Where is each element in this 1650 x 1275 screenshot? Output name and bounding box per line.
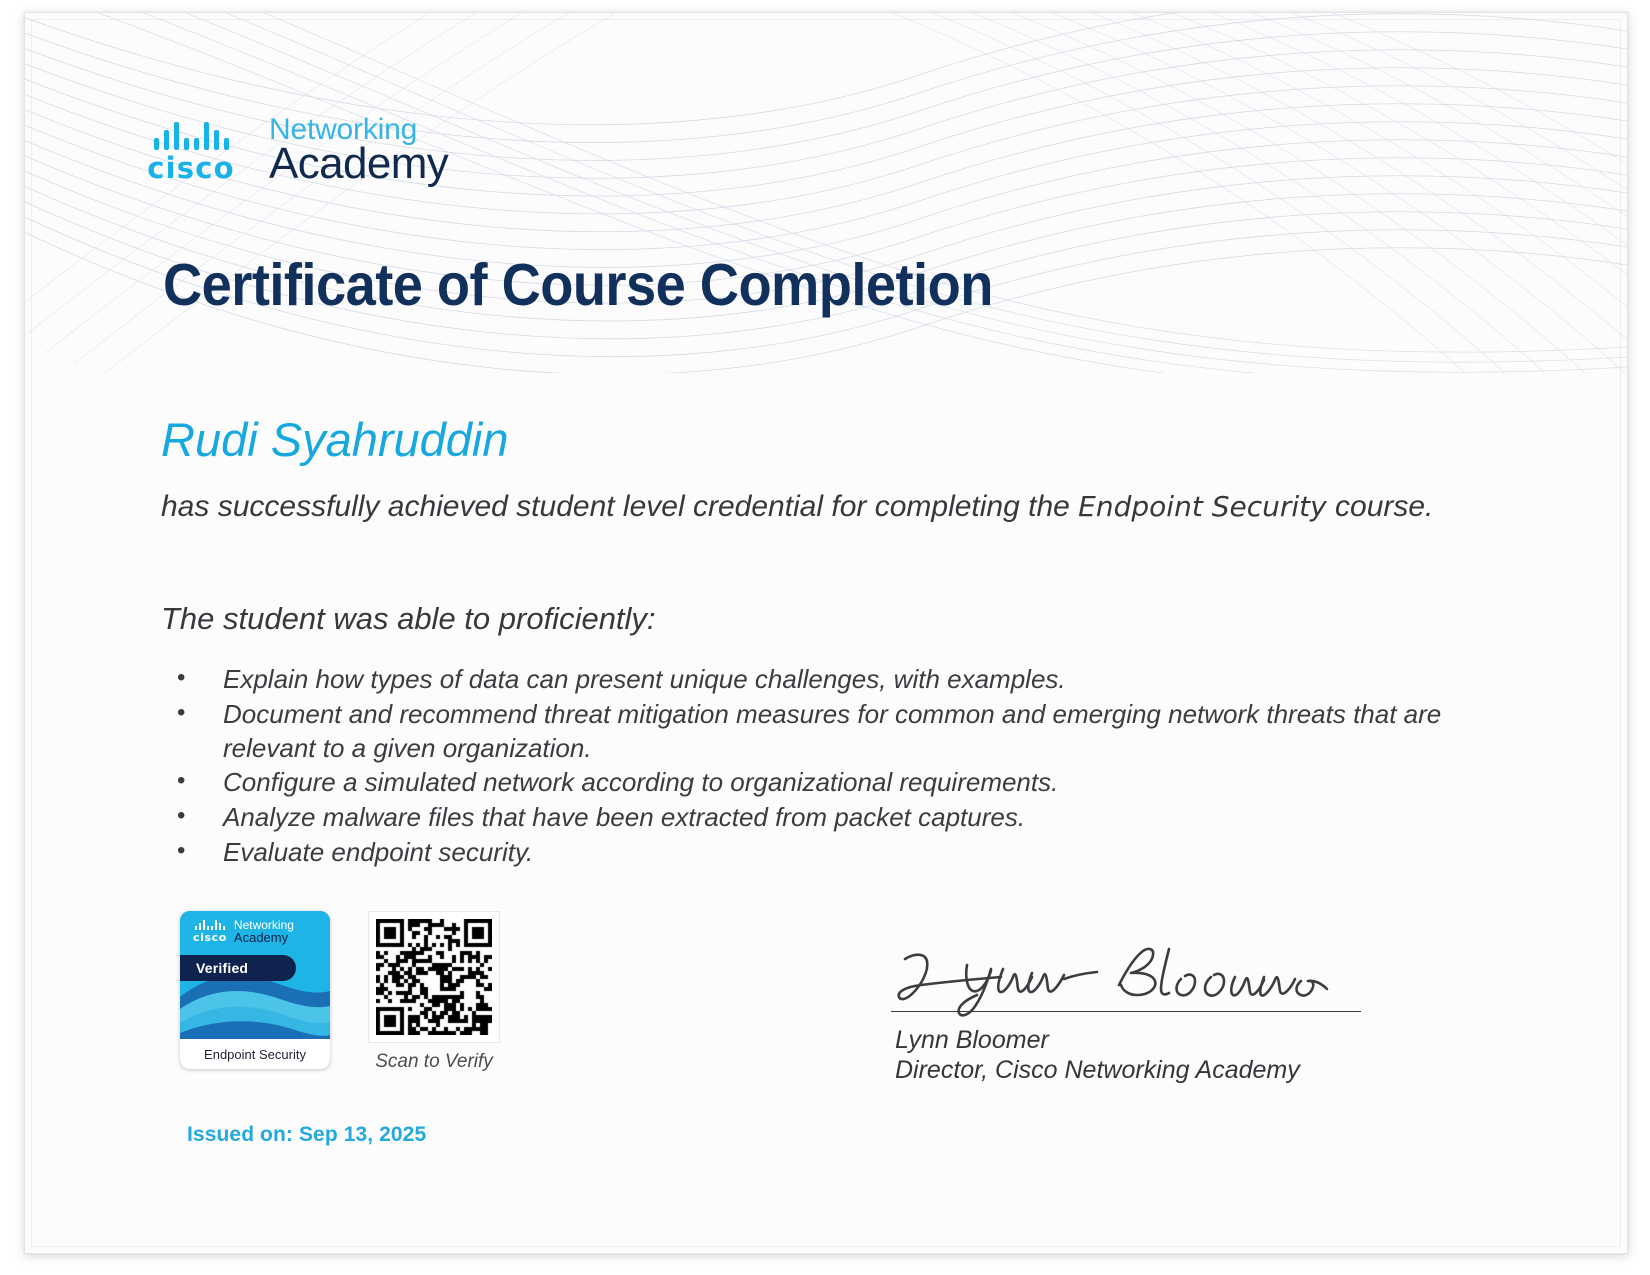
academy-line-academy: Academy [269, 142, 448, 187]
completion-statement: has successfully achieved student level … [161, 487, 1491, 527]
cisco-logo-mark: cisco [135, 120, 247, 183]
badge-logo: cisco Networking Academy [193, 919, 294, 944]
signatory-name: Lynn Bloomer [891, 1026, 1361, 1056]
list-item: Explain how types of data can present un… [175, 663, 1515, 697]
signatory-title: Director, Cisco Networking Academy [891, 1056, 1361, 1086]
qr-code-caption: Scan to Verify [368, 1051, 500, 1073]
qr-code[interactable] [368, 911, 500, 1043]
badge-cisco-bars-icon [195, 920, 225, 930]
cisco-bars-icon [154, 120, 229, 150]
decorative-wave-pattern [25, 13, 1627, 373]
list-item: Configure a simulated network according … [175, 766, 1515, 800]
course-name: Endpoint Security [1078, 490, 1327, 523]
objectives-list: Explain how types of data can present un… [175, 663, 1515, 871]
handwritten-signature [891, 943, 1361, 1009]
cisco-networking-academy-logo: cisco Networking Academy [135, 115, 448, 188]
credential-badge: cisco Networking Academy Verified Endpoi… [180, 911, 330, 1069]
badge-course-label-strip: Endpoint Security [180, 1039, 330, 1069]
badge-course-label: Endpoint Security [204, 1047, 306, 1062]
status-badge-label: Verified [196, 960, 248, 976]
statement-trail: course. [1327, 490, 1434, 523]
academy-wordmark: Networking Academy [269, 115, 448, 188]
badge-academy-wordmark: Networking Academy [234, 919, 294, 944]
list-item: Document and recommend threat mitigation… [175, 698, 1515, 766]
statement-lead: has successfully achieved student level … [161, 490, 1078, 523]
status-badge: Verified [180, 955, 296, 981]
issue-date: Issued on: Sep 13, 2025 [187, 1123, 426, 1147]
list-item: Analyze malware files that have been ext… [175, 801, 1515, 835]
proficiency-heading: The student was able to proficiently: [161, 601, 656, 637]
cisco-wordmark: cisco [147, 154, 235, 183]
list-item: Evaluate endpoint security. [175, 836, 1515, 870]
certificate-page: cisco Networking Academy Certificate of … [0, 0, 1650, 1275]
recipient-name: Rudi Syahruddin [161, 412, 509, 467]
badge-academy-line2: Academy [234, 931, 294, 945]
signature-block: Lynn Bloomer Director, Cisco Networking … [891, 943, 1361, 1085]
page-title: Certificate of Course Completion [163, 251, 993, 319]
qr-code-canvas[interactable] [376, 919, 492, 1035]
certificate-card: cisco Networking Academy Certificate of … [24, 12, 1628, 1254]
badge-cisco-wordmark: cisco [193, 932, 227, 943]
